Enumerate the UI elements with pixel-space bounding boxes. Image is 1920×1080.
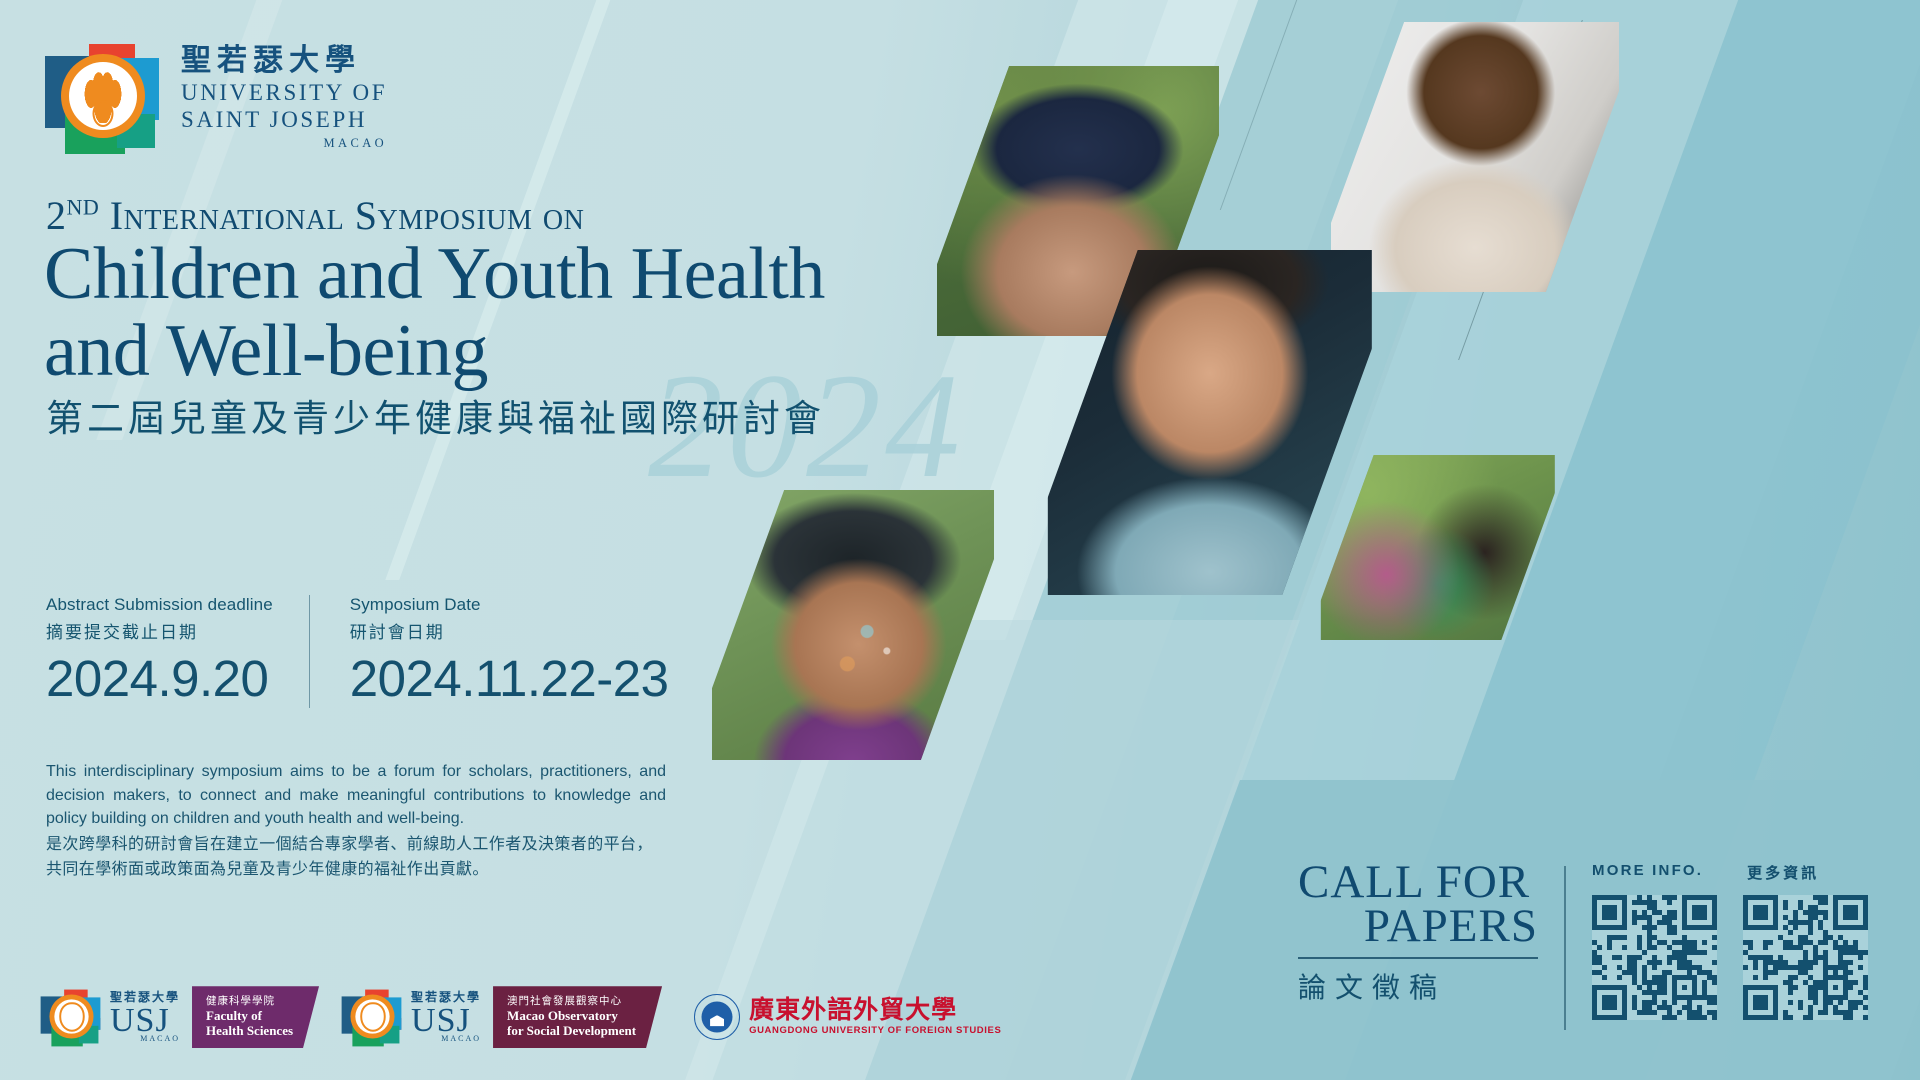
description-cn-line1: 是次跨學科的研討會旨在建立一個結合專家學者、前線助人工作者及決策者的平台，	[46, 831, 666, 857]
partner-banner: 健康科學學院 Faculty of Health Sciences	[192, 986, 319, 1048]
photo-children-hugging	[1306, 455, 1568, 640]
partner-banner-en1: Macao Observatory	[507, 1008, 636, 1024]
date-label-cn: 摘要提交截止日期	[46, 618, 273, 643]
partner-banner-cn: 澳門社會發展觀察中心	[507, 995, 636, 1008]
cfp-qr-divider	[1564, 866, 1566, 1030]
more-info-label-cn: 更多資訊	[1747, 862, 1819, 883]
headline-line-2: and Well-being	[44, 315, 864, 388]
page-title: Children and Youth Health and Well-being	[44, 238, 864, 387]
poster-canvas: 聖若瑟大學 UNIVERSITY OF SAINT JOSEPH MACAO 2…	[0, 0, 1920, 1080]
date-value: 2024.11.22-23	[350, 649, 669, 708]
headline-line-1: Children and Youth Health	[44, 233, 825, 315]
kicker-rest: International Symposium on	[110, 193, 585, 238]
main-content: 聖若瑟大學 UNIVERSITY OF SAINT JOSEPH MACAO 2…	[0, 0, 1050, 1080]
description-block: This interdisciplinary symposium aims to…	[46, 760, 666, 882]
description-cn-line2: 共同在學術面或政策面為兒童及青少年健康的福祉作出貢獻。	[46, 856, 666, 882]
cfp-line-2: PAPERS	[1298, 904, 1538, 948]
partner-guangdong-university: 廣東外語外貿大學 GUANGDONG UNIVERSITY OF FOREIGN…	[694, 994, 1001, 1040]
more-info-label-en: MORE INFO.	[1592, 862, 1703, 883]
usj-seal-icon	[350, 995, 394, 1039]
symposium-kicker: 2ND International Symposium on	[46, 192, 584, 239]
guangdong-name-cn: 廣東外語外貿大學	[749, 998, 1001, 1023]
kicker-number: 2	[46, 193, 67, 238]
usj-logo-line2: SAINT JOSEPH	[181, 106, 387, 133]
cfp-divider	[1298, 957, 1538, 959]
call-for-papers: CALL FOR PAPERS 論文徵稿	[1298, 860, 1538, 1006]
date-abstract-deadline: Abstract Submission deadline 摘要提交截止日期 20…	[46, 595, 309, 708]
description-en: This interdisciplinary symposium aims to…	[46, 760, 666, 831]
partner-macao-observatory: 聖若瑟大學 USJ MACAO 澳門社會發展觀察中心 Macao Observa…	[341, 986, 662, 1048]
date-symposium: Symposium Date 研討會日期 2024.11.22-23	[309, 595, 705, 708]
partner-banner: 澳門社會發展觀察中心 Macao Observatory for Social …	[493, 986, 662, 1048]
usj-logo-line1: UNIVERSITY OF	[181, 79, 387, 106]
usj-logo: 聖若瑟大學 UNIVERSITY OF SAINT JOSEPH MACAO	[45, 42, 387, 154]
date-label-en: Abstract Submission deadline	[46, 595, 273, 615]
partner-banner-cn: 健康科學學院	[206, 995, 293, 1008]
date-label-cn: 研討會日期	[350, 618, 669, 643]
page-title-chinese: 第二屆兒童及青少年健康與福祉國際研討會	[46, 388, 825, 442]
partner-banner-en1: Faculty of	[206, 1008, 293, 1024]
usj-crest-icon	[41, 989, 102, 1046]
date-value: 2024.9.20	[46, 649, 273, 708]
partner-faculty-of-health-sciences: 聖若瑟大學 USJ MACAO 健康科學學院 Faculty of Health…	[40, 986, 319, 1048]
date-label-en: Symposium Date	[350, 595, 669, 615]
partner-banner-en2: for Social Development	[507, 1023, 636, 1039]
qr-code-submission[interactable]	[1743, 895, 1868, 1020]
partner-logos: 聖若瑟大學 USJ MACAO 健康科學學院 Faculty of Health…	[40, 986, 1001, 1048]
usj-seal-icon	[49, 995, 93, 1039]
partner-mark-en: USJ	[411, 1004, 481, 1038]
usj-crest-icon	[45, 42, 163, 154]
decor-hairline-2	[1220, 0, 1297, 210]
key-dates: Abstract Submission deadline 摘要提交截止日期 20…	[46, 595, 704, 708]
partner-banner-en2: Health Sciences	[206, 1023, 293, 1039]
usj-logo-location: MACAO	[181, 136, 387, 151]
qr-code-more-info[interactable]	[1592, 895, 1717, 1020]
cfp-chinese: 論文徵稿	[1298, 966, 1538, 1006]
usj-crest-icon	[342, 989, 403, 1046]
usj-seal-icon	[61, 54, 145, 138]
guangdong-name-en: GUANGDONG UNIVERSITY OF FOREIGN STUDIES	[749, 1025, 1001, 1036]
cfp-line-1: CALL FOR	[1298, 860, 1538, 904]
kicker-ordinal-suffix: ND	[67, 195, 100, 220]
guangdong-seal-icon	[694, 994, 740, 1040]
partner-mark-en: USJ	[110, 1004, 180, 1038]
more-info-block: MORE INFO. 更多資訊	[1592, 862, 1902, 1020]
usj-logo-chinese: 聖若瑟大學	[181, 45, 387, 77]
